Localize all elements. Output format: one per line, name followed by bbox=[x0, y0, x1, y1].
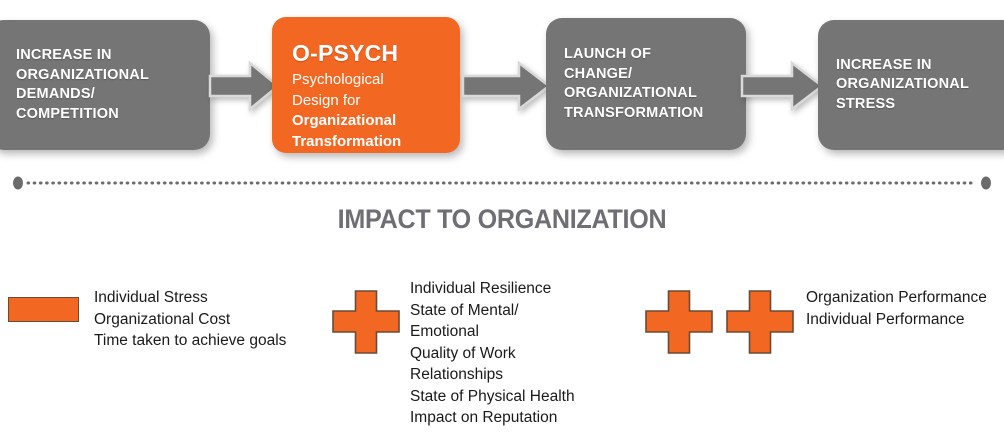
legend-icons bbox=[645, 278, 794, 354]
legend-label: Individual Resilience State of Mental/ E… bbox=[410, 278, 575, 429]
legend-group-decrease[interactable]: Individual Stress Organizational Cost Ti… bbox=[8, 287, 286, 352]
orange-plus-icon bbox=[726, 290, 794, 354]
flow-step-increase-stress[interactable]: INCREASE IN ORGANIZATIONAL STRESS bbox=[818, 20, 1004, 150]
flow-step-label: LAUNCH OF CHANGE/ ORGANIZATIONAL TRANSFO… bbox=[564, 45, 703, 123]
flow-step-launch-of-change[interactable]: LAUNCH OF CHANGE/ ORGANIZATIONAL TRANSFO… bbox=[546, 18, 746, 150]
flow-step-subtitle-regular: Psychological Design for bbox=[292, 70, 401, 111]
flow-step-title: O-PSYCH bbox=[292, 39, 401, 67]
flow-arrow-3 bbox=[740, 60, 824, 117]
orange-plus-icon bbox=[645, 290, 713, 354]
orange-bar-icon bbox=[8, 297, 79, 322]
flow-step-o-psych[interactable]: O-PSYCH Psychological Design for Organiz… bbox=[272, 17, 460, 153]
legend-icons bbox=[332, 278, 400, 354]
legend-icons bbox=[8, 287, 79, 322]
legend-group-increase-single[interactable]: Individual Resilience State of Mental/ E… bbox=[332, 278, 575, 429]
process-flow-diagram: INCREASE IN ORGANIZATIONAL DEMANDS/ COMP… bbox=[0, 0, 1004, 170]
impact-legend: Individual Stress Organizational Cost Ti… bbox=[0, 275, 1004, 442]
flow-step-subtitle-bold: Organizational Transformation bbox=[292, 111, 401, 152]
section-heading: IMPACT TO ORGANIZATION bbox=[35, 204, 969, 235]
orange-plus-icon bbox=[332, 290, 400, 354]
flow-step-label: INCREASE IN ORGANIZATIONAL DEMANDS/ COMP… bbox=[16, 46, 149, 124]
legend-label: Individual Stress Organizational Cost Ti… bbox=[94, 287, 286, 352]
legend-group-increase-double[interactable]: Organization Performance Individual Perf… bbox=[645, 278, 987, 354]
flow-arrow-2 bbox=[461, 60, 551, 117]
flow-arrow-1 bbox=[208, 60, 280, 117]
flow-step-increase-demands[interactable]: INCREASE IN ORGANIZATIONAL DEMANDS/ COMP… bbox=[0, 20, 210, 150]
dotted-divider bbox=[0, 176, 1004, 190]
legend-label: Organization Performance Individual Perf… bbox=[806, 278, 987, 330]
flow-step-label: INCREASE IN ORGANIZATIONAL STRESS bbox=[836, 56, 969, 115]
